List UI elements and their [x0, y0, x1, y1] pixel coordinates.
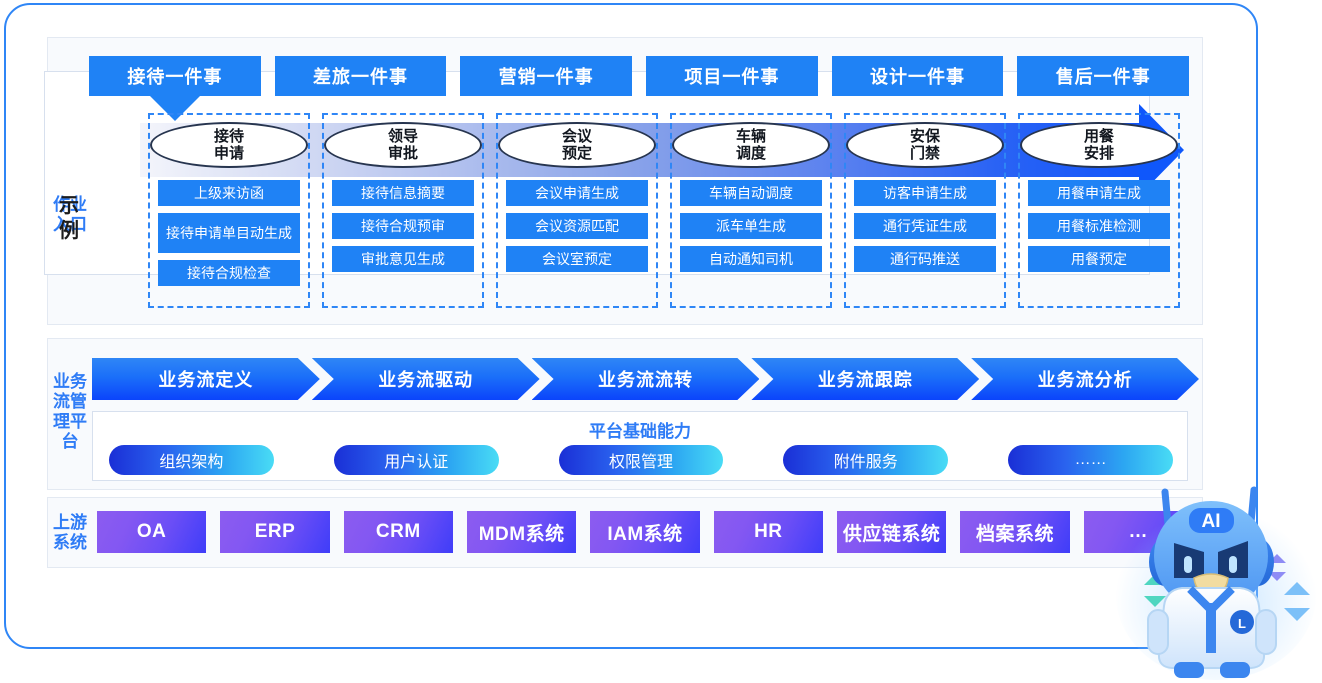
flow-node-label-line2: 审批: [388, 145, 418, 162]
capability-pill-3[interactable]: 权限管理: [559, 445, 724, 475]
task-list-1: 上级来访函接待申请单目动生成接待合规检查: [158, 180, 300, 286]
flow-node-label-line1: 安保: [910, 128, 940, 145]
task-button[interactable]: 用餐申请生成: [1028, 180, 1170, 206]
task-button[interactable]: 用餐预定: [1028, 246, 1170, 272]
flow-node-4[interactable]: 车辆调度: [672, 122, 830, 168]
entry-tab-bar: 接待一件事差旅一件事营销一件事项目一件事设计一件事售后一件事: [89, 56, 1189, 96]
task-button[interactable]: 访客申请生成: [854, 180, 996, 206]
entry-column-3: 会议预定会议申请生成会议资源匹配会议室预定: [496, 113, 658, 308]
task-button[interactable]: 用餐标准检测: [1028, 213, 1170, 239]
upstream-system-row: OAERPCRMMDM系统IAM系统HR供应链系统档案系统…: [97, 511, 1193, 553]
task-button[interactable]: 接待合规预审: [332, 213, 474, 239]
task-list-5: 访客申请生成通行凭证生成通行码推送: [854, 180, 996, 272]
task-button[interactable]: 派车单生成: [680, 213, 822, 239]
entry-tab-3[interactable]: 营销一件事: [460, 56, 632, 96]
task-button[interactable]: 通行凭证生成: [854, 213, 996, 239]
task-list-3: 会议申请生成会议资源匹配会议室预定: [506, 180, 648, 272]
flow-node-label-line2: 预定: [562, 145, 592, 162]
mascot-head-badge-text: AI: [1202, 511, 1221, 532]
flow-node-label-line1: 车辆: [736, 128, 766, 145]
capability-pill-1[interactable]: 组织架构: [109, 445, 274, 475]
capability-pill-row: 组织架构用户认证权限管理附件服务……: [109, 445, 1173, 475]
upstream-system-8[interactable]: 档案系统: [960, 511, 1069, 553]
task-button[interactable]: 接待合规检查: [158, 260, 300, 286]
capability-panel-title: 平台基础能力: [93, 417, 1187, 442]
upstream-system-4[interactable]: MDM系统: [467, 511, 576, 553]
platform-stage-3[interactable]: 业务流流转: [532, 358, 760, 400]
upstream-system-2[interactable]: ERP: [220, 511, 329, 553]
platform-section-label: 业务流管理平台: [48, 372, 92, 452]
capability-pill-2[interactable]: 用户认证: [334, 445, 499, 475]
diagram-root: 作业入口 示例 接待一件事差旅一件事营销一件事项目一件事设计一件事售后一件事 接…: [0, 0, 1322, 683]
platform-stage-4[interactable]: 业务流跟踪: [751, 358, 979, 400]
capability-panel: 平台基础能力 组织架构用户认证权限管理附件服务……: [92, 411, 1188, 481]
entry-column-2: 领导审批接待信息摘要接待合规预审审批意见生成: [322, 113, 484, 308]
entry-tab-5[interactable]: 设计一件事: [832, 56, 1004, 96]
flow-node-label-line1: 领导: [388, 128, 418, 145]
entry-tab-1[interactable]: 接待一件事: [89, 56, 261, 96]
flow-node-label-line2: 申请: [214, 145, 244, 162]
entry-tab-4[interactable]: 项目一件事: [646, 56, 818, 96]
entry-column-6: 用餐安排用餐申请生成用餐标准检测用餐预定: [1018, 113, 1180, 308]
flow-node-label-line2: 调度: [736, 145, 766, 162]
upstream-system-3[interactable]: CRM: [344, 511, 453, 553]
entry-tab-2[interactable]: 差旅一件事: [275, 56, 447, 96]
flow-node-label-line1: 接待: [214, 128, 244, 145]
task-button[interactable]: 上级来访函: [158, 180, 300, 206]
platform-stage-2[interactable]: 业务流驱动: [312, 358, 540, 400]
task-list-2: 接待信息摘要接待合规预审审批意见生成: [332, 180, 474, 272]
task-button[interactable]: 会议资源匹配: [506, 213, 648, 239]
flow-node-5[interactable]: 安保门禁: [846, 122, 1004, 168]
platform-stage-bar: 业务流定义业务流驱动业务流流转业务流跟踪业务流分析: [92, 358, 1199, 400]
upstream-system-7[interactable]: 供应链系统: [837, 511, 946, 553]
task-list-4: 车辆自动调度派车单生成自动通知司机: [680, 180, 822, 272]
flow-node-1[interactable]: 接待申请: [150, 122, 308, 168]
entry-column-5: 安保门禁访客申请生成通行凭证生成通行码推送: [844, 113, 1006, 308]
flow-node-label-line1: 会议: [562, 128, 592, 145]
flow-node-label-line2: 安排: [1084, 145, 1114, 162]
platform-stage-1[interactable]: 业务流定义: [92, 358, 320, 400]
task-button[interactable]: 通行码推送: [854, 246, 996, 272]
flow-node-label-line2: 门禁: [910, 145, 940, 162]
task-button[interactable]: 审批意见生成: [332, 246, 474, 272]
task-button[interactable]: 接待申请单目动生成: [158, 213, 300, 253]
upstream-section-label: 上游系统: [48, 513, 92, 553]
upstream-system-6[interactable]: HR: [714, 511, 823, 553]
mascot-chest-badge-text: L: [1238, 616, 1246, 631]
flow-node-6[interactable]: 用餐安排: [1020, 122, 1178, 168]
capability-pill-4[interactable]: 附件服务: [783, 445, 948, 475]
entry-column-4: 车辆调度车辆自动调度派车单生成自动通知司机: [670, 113, 832, 308]
mascot-svg: AI L: [1108, 470, 1322, 683]
task-button[interactable]: 会议申请生成: [506, 180, 648, 206]
entry-column-1: 接待申请上级来访函接待申请单目动生成接待合规检查: [148, 113, 310, 308]
ai-robot-mascot: AI L: [1108, 470, 1322, 683]
upstream-system-5[interactable]: IAM系统: [590, 511, 699, 553]
entry-columns: 接待申请上级来访函接待申请单目动生成接待合规检查领导审批接待信息摘要接待合规预审…: [148, 113, 1148, 308]
task-button[interactable]: 接待信息摘要: [332, 180, 474, 206]
task-list-6: 用餐申请生成用餐标准检测用餐预定: [1028, 180, 1170, 272]
flow-node-3[interactable]: 会议预定: [498, 122, 656, 168]
platform-stage-5[interactable]: 业务流分析: [971, 358, 1199, 400]
flow-node-label-line1: 用餐: [1084, 128, 1114, 145]
task-button[interactable]: 车辆自动调度: [680, 180, 822, 206]
task-button[interactable]: 会议室预定: [506, 246, 648, 272]
flow-node-2[interactable]: 领导审批: [324, 122, 482, 168]
upstream-system-1[interactable]: OA: [97, 511, 206, 553]
entry-tab-6[interactable]: 售后一件事: [1017, 56, 1189, 96]
task-button[interactable]: 自动通知司机: [680, 246, 822, 272]
example-label: 示例: [56, 194, 82, 244]
